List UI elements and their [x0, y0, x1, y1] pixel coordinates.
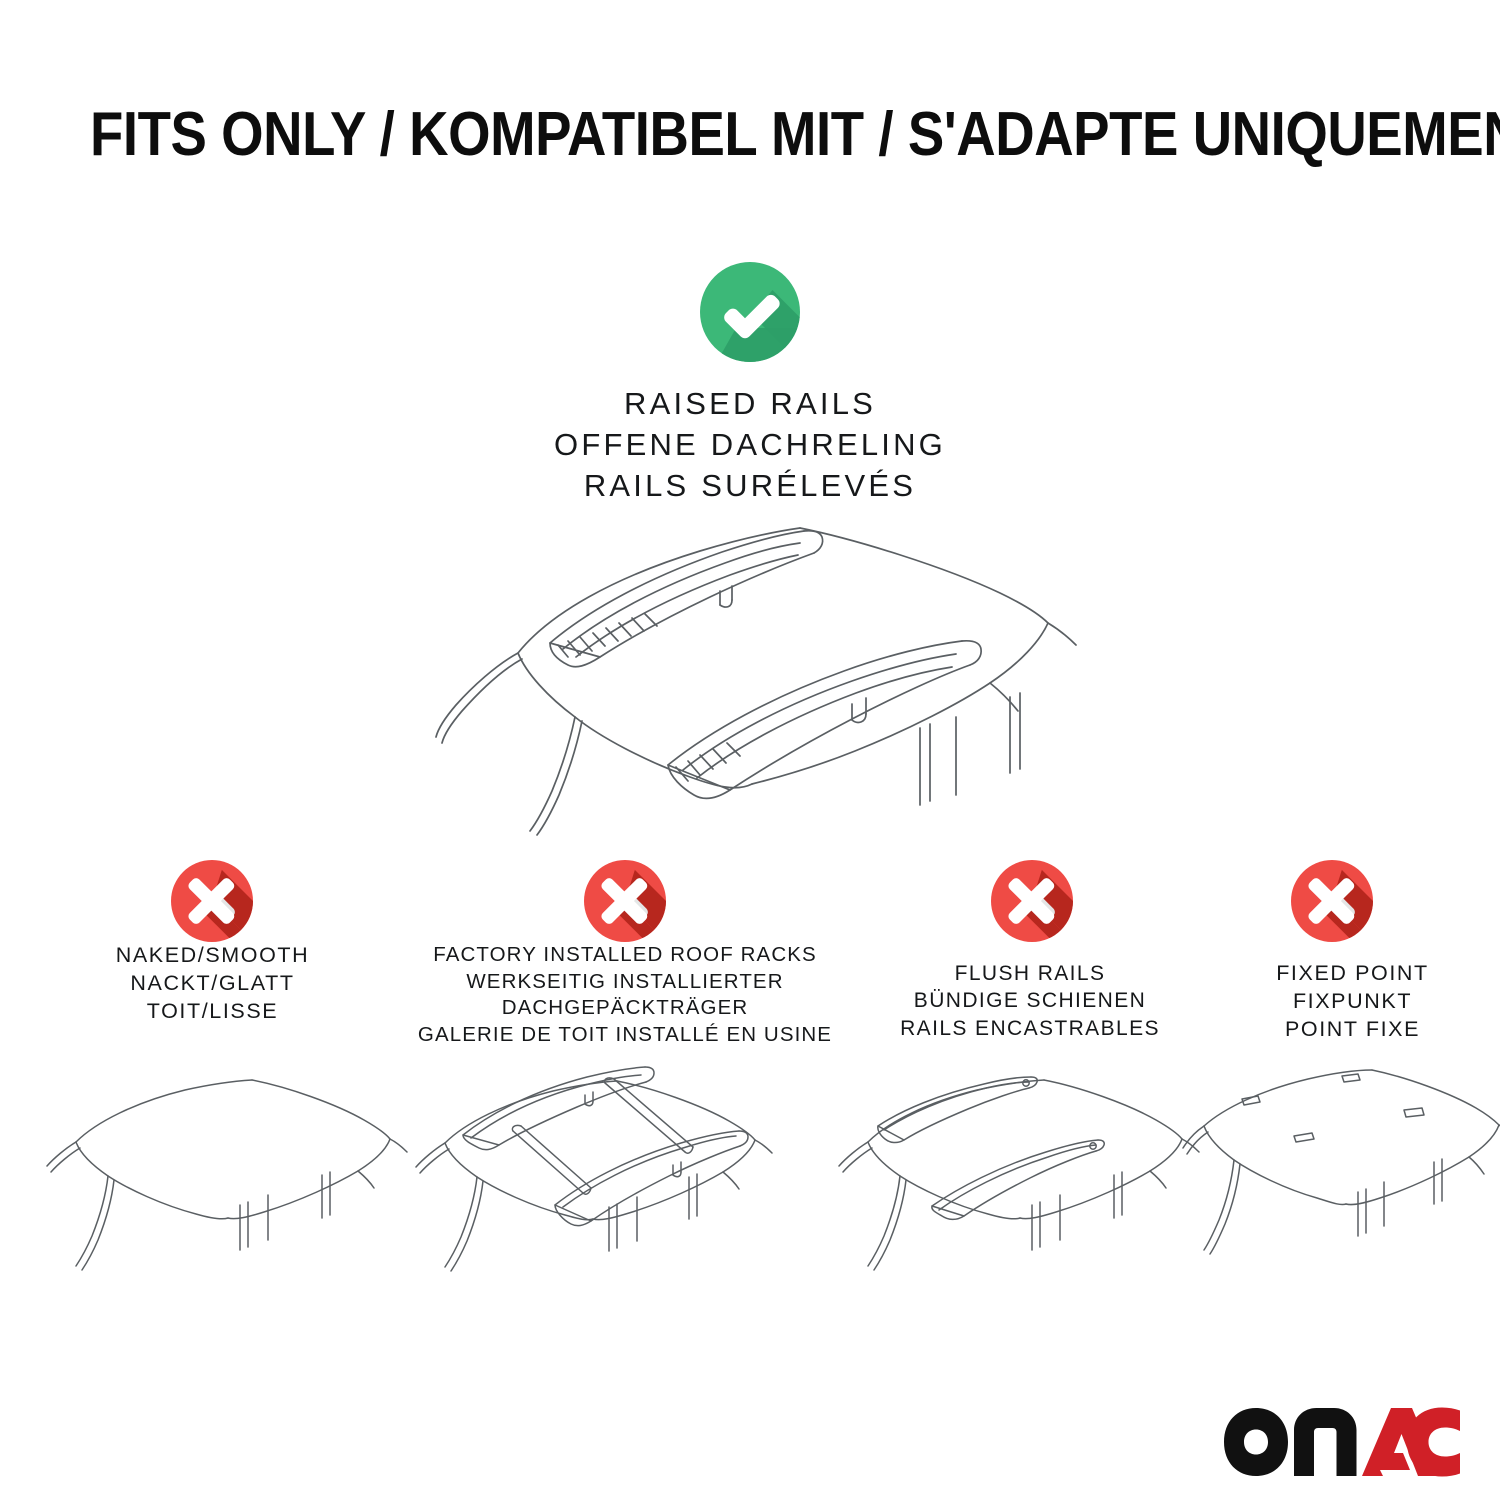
omac-logo — [1222, 1404, 1462, 1480]
naked-smooth-label-line-en: NAKED/SMOOTH — [40, 942, 385, 970]
fixed-point-label-line-de: FIXPUNKT — [1210, 988, 1495, 1016]
x-circle-icon — [584, 860, 666, 942]
omac-logo-m — [1294, 1408, 1357, 1476]
compatible-label-line-en: RAISED RAILS — [450, 383, 1050, 424]
car-roof-raised-rails-illustration — [400, 505, 1100, 835]
flush-rails-label: FLUSH RAILS BÜNDIGE SCHIENEN RAILS ENCAS… — [860, 960, 1200, 1042]
compatible-label: RAISED RAILS OFFENE DACHRELING RAILS SUR… — [450, 383, 1050, 507]
omac-logo-o — [1224, 1408, 1288, 1476]
flush-rails-label-line-de: BÜNDIGE SCHIENEN — [860, 987, 1200, 1014]
car-roof-naked-smooth-illustration — [40, 1060, 410, 1290]
compatibility-infographic: FITS ONLY / KOMPATIBEL MIT / S'ADAPTE UN… — [0, 0, 1500, 1500]
factory-racks-label: FACTORY INSTALLED ROOF RACKS WERKSEITIG … — [385, 942, 865, 1049]
fixed-point-label: FIXED POINT FIXPUNKT POINT FIXE — [1210, 960, 1495, 1044]
x-circle-icon — [1291, 860, 1373, 942]
factory-racks-label-line-en: FACTORY INSTALLED ROOF RACKS — [385, 942, 865, 969]
x-circle-icon — [171, 860, 253, 942]
naked-smooth-label-line-fr: TOIT/LISSE — [40, 998, 385, 1026]
page-title: FITS ONLY / KOMPATIBEL MIT / S'ADAPTE UN… — [90, 104, 1410, 166]
flush-rails-label-line-fr: RAILS ENCASTRABLES — [860, 1015, 1200, 1042]
x-circle-icon — [991, 860, 1073, 942]
fixed-point-label-line-fr: POINT FIXE — [1210, 1016, 1495, 1044]
check-circle-icon — [700, 262, 800, 362]
car-roof-fixed-point-illustration — [1182, 1060, 1500, 1290]
car-roof-flush-rails-illustration — [832, 1060, 1202, 1290]
naked-smooth-label: NAKED/SMOOTH NACKT/GLATT TOIT/LISSE — [40, 942, 385, 1026]
factory-racks-label-line-fr: GALERIE DE TOIT INSTALLÉ EN USINE — [385, 1022, 865, 1049]
car-roof-factory-racks-illustration — [405, 1055, 785, 1290]
factory-racks-label-line-de1: WERKSEITIG INSTALLIERTER — [385, 969, 865, 996]
factory-racks-label-line-de2: DACHGEPÄCKTRÄGER — [385, 995, 865, 1022]
naked-smooth-label-line-de: NACKT/GLATT — [40, 970, 385, 998]
fixed-point-label-line-en: FIXED POINT — [1210, 960, 1495, 988]
compatible-label-line-de: OFFENE DACHRELING — [450, 424, 1050, 465]
compatible-label-line-fr: RAILS SURÉLEVÉS — [450, 465, 1050, 506]
flush-rails-label-line-en: FLUSH RAILS — [860, 960, 1200, 987]
